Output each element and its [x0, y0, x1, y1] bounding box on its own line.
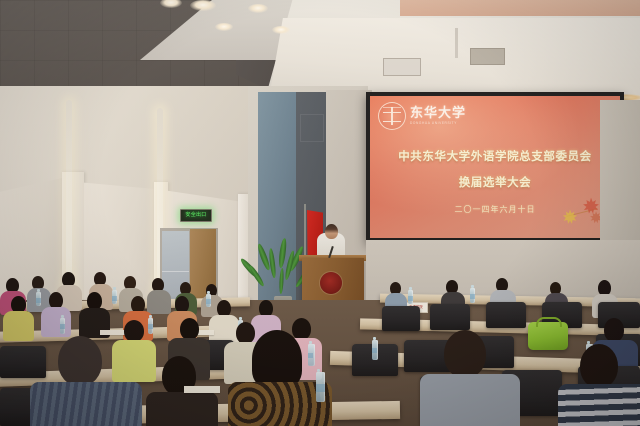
chair	[486, 302, 526, 328]
water-bottle	[60, 318, 65, 334]
downlight-icon	[190, 0, 216, 11]
university-logo: 东华大学 DONGHUA UNIVERSITY	[378, 102, 466, 130]
logo-name-cn: 东华大学	[410, 107, 466, 120]
chair	[382, 306, 420, 331]
presentation-slide: 东华大学 DONGHUA UNIVERSITY 中共东华大学外语学院总支部委员会…	[370, 96, 620, 238]
chair	[430, 304, 470, 330]
document-sheet	[100, 330, 126, 335]
speaker-head	[325, 224, 338, 239]
university-crest-icon	[320, 272, 342, 294]
university-seal-icon	[378, 102, 406, 130]
conference-hall-photo: 安全出口 东华大学 DONGHUA UNIVERSITY	[0, 0, 640, 426]
downlight-icon	[272, 26, 290, 34]
chair	[0, 346, 46, 378]
downlight-icon	[215, 23, 233, 31]
wall-vent-icon	[470, 48, 505, 65]
downlight-icon	[248, 4, 268, 13]
slide-title-line1: 中共东华大学外语学院总支部委员会	[370, 148, 620, 164]
exit-sign-label: 安全出口	[185, 213, 206, 218]
water-bottle	[206, 294, 211, 307]
logo-name-en: DONGHUA UNIVERSITY	[410, 122, 466, 125]
water-bottle	[372, 340, 378, 360]
slide-title-line2: 换届选举大会	[370, 174, 620, 190]
green-bag	[528, 322, 568, 350]
wall-vent-icon	[383, 58, 421, 76]
ceiling-pipe	[455, 28, 458, 58]
water-bottle	[112, 290, 117, 304]
water-bottle	[308, 344, 315, 366]
maple-leaf-icon	[560, 208, 580, 226]
document-sheet	[184, 386, 220, 393]
ceiling-salmon-band	[400, 0, 640, 16]
water-bottle	[316, 372, 325, 402]
water-bottle	[36, 292, 41, 306]
projection-screen: 东华大学 DONGHUA UNIVERSITY 中共东华大学外语学院总支部委员会…	[366, 92, 624, 242]
water-bottle	[408, 290, 413, 304]
exit-sign: 安全出口	[180, 209, 212, 222]
water-bottle	[470, 288, 475, 303]
water-bottle	[148, 318, 153, 334]
